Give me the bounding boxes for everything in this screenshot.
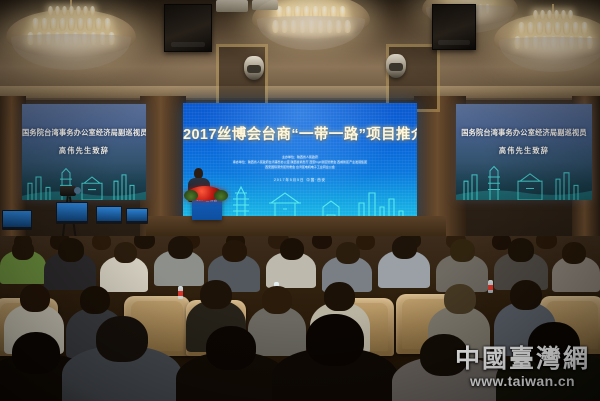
- audience-head: [562, 242, 586, 264]
- audience-head: [200, 280, 232, 309]
- audience-head: [450, 239, 475, 262]
- watermark-site-name: 中國臺灣網: [455, 347, 590, 372]
- conference-photo: 国务院台湾事务办公室经济局副巡视员 高伟先生致辞 国务院台湾事务办公室经济局副巡…: [0, 0, 600, 401]
- audience-head: [114, 242, 137, 263]
- right-screen-line1: 国务院台湾事务办公室经济局副巡视员: [456, 128, 592, 138]
- dome-camera-left: [244, 56, 264, 80]
- skyline-graphic-right: [456, 154, 592, 200]
- ceiling-speaker-right: [432, 4, 476, 50]
- watermark: 中國臺灣網 www.taiwan.cn: [455, 347, 590, 389]
- chandelier-crystal-skirt: [11, 34, 131, 70]
- organizer-line-3: 西安国际港务区管委会 台湾区电机电子工业同业公会: [189, 165, 411, 170]
- audience-head-front: [96, 316, 148, 362]
- ceiling-speaker-left: [164, 4, 212, 52]
- flower-foliage-left: [184, 190, 198, 201]
- dome-camera-right: [386, 54, 406, 78]
- flower-foliage-right: [214, 190, 228, 201]
- event-title: 2017丝博会台商“一带一路”项目推介会: [183, 123, 417, 144]
- audience-head: [336, 242, 360, 264]
- audience-head: [262, 286, 292, 314]
- audience-head: [12, 240, 34, 260]
- audience-head: [20, 284, 50, 312]
- chandelier-far-left: [6, 0, 136, 74]
- ceiling-mount-center: [252, 0, 278, 10]
- water-bottle: [488, 280, 493, 293]
- skyline-graphic-left: [22, 154, 146, 200]
- audience-head: [280, 238, 304, 260]
- audience-head: [134, 236, 155, 249]
- audience-head: [392, 236, 417, 259]
- av-monitor-2[interactable]: [96, 206, 122, 224]
- audience-head-front: [206, 326, 256, 370]
- camera-lens: [74, 187, 81, 194]
- audience-head-front: [12, 332, 60, 374]
- wall-cornice-band: [0, 86, 600, 98]
- audience-head: [80, 286, 110, 314]
- audience-head: [444, 284, 476, 314]
- audience-head: [508, 238, 534, 262]
- av-monitor-1[interactable]: [56, 202, 88, 224]
- chandelier-crystal-skirt: [257, 16, 366, 50]
- organizer-line-2: 承办单位：陕西省人民政府台湾事务办公室 陕西省商务厅 西安high新区管委会 西…: [189, 160, 411, 165]
- chandelier-crystal-skirt: [499, 37, 600, 72]
- audience-head: [92, 236, 111, 250]
- audience-head: [324, 282, 355, 311]
- av-monitor-4[interactable]: [126, 208, 148, 224]
- audience-head-front: [306, 314, 364, 366]
- projection-screen-right: 国务院台湾事务办公室经济局副巡视员 高伟先生致辞: [456, 104, 592, 200]
- audience-head: [58, 238, 84, 262]
- projection-screen-left: 国务院台湾事务办公室经济局副巡视员 高伟先生致辞: [22, 104, 146, 200]
- audience-head: [510, 280, 542, 310]
- door-frame-left: [216, 44, 268, 112]
- water-bottle: [178, 286, 183, 299]
- audience-head: [312, 236, 332, 249]
- audience-head: [168, 236, 193, 259]
- left-screen-line1: 国务院台湾事务办公室经济局副巡视员: [22, 128, 146, 138]
- ceiling-mount-left: [216, 0, 248, 12]
- audience-head: [536, 236, 557, 249]
- av-monitor-3[interactable]: [2, 210, 32, 230]
- audience-head: [222, 240, 247, 262]
- organizer-line-1: 主办单位：陕西省人民政府: [189, 155, 411, 160]
- watermark-url: www.taiwan.cn: [455, 373, 590, 389]
